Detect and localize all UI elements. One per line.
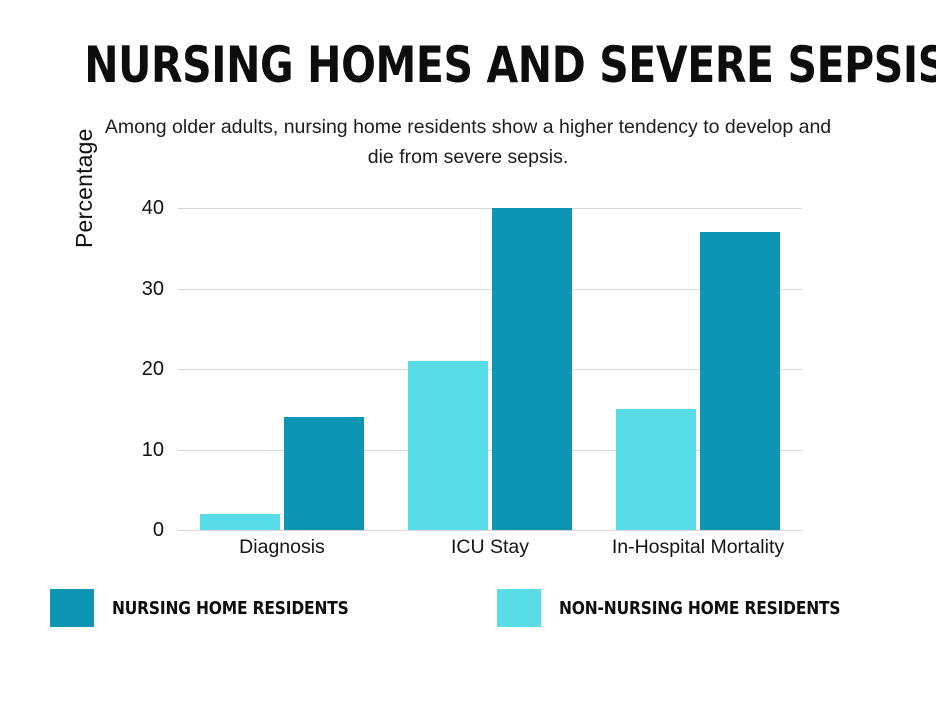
gridline-0: [178, 530, 802, 531]
bar-icu-stay-non-nursing-home: [408, 361, 488, 530]
legend-label: NON-NURSING HOME RESIDENTS: [559, 598, 840, 619]
legend-swatch-dark: [50, 589, 94, 627]
x-tick-label: ICU Stay: [451, 536, 529, 559]
legend-item: NURSING HOME RESIDENTS: [50, 589, 387, 627]
infographic-canvas: NURSING HOMES AND SEVERE SEPSIS Among ol…: [0, 0, 936, 702]
legend-label: NURSING HOME RESIDENTS: [112, 598, 349, 619]
chart-legend: NURSING HOME RESIDENTSNON-NURSING HOME R…: [0, 589, 936, 627]
y-tick-label: 30: [118, 278, 164, 301]
y-tick-label: 20: [118, 358, 164, 381]
x-axis-tick-labels: DiagnosisICU StayIn-Hospital Mortality: [178, 536, 802, 564]
y-tick-label: 10: [118, 439, 164, 462]
bar-diagnosis-non-nursing-home: [200, 514, 280, 530]
y-axis-title: Percentage: [71, 128, 98, 248]
y-tick-label: 0: [118, 519, 164, 542]
y-axis-tick-labels: 010203040: [118, 208, 164, 530]
bar-icu-stay-nursing-home: [492, 208, 572, 530]
bar-diagnosis-nursing-home: [284, 417, 364, 530]
chart-bars: [178, 208, 802, 530]
legend-swatch-light: [497, 589, 541, 627]
x-tick-label: In-Hospital Mortality: [612, 536, 784, 559]
bar-in-hospital-mortality-non-nursing-home: [616, 409, 696, 530]
legend-item: NON-NURSING HOME RESIDENTS: [497, 589, 886, 627]
x-tick-label: Diagnosis: [239, 536, 325, 559]
y-tick-label: 40: [118, 197, 164, 220]
bar-in-hospital-mortality-nursing-home: [700, 232, 780, 530]
